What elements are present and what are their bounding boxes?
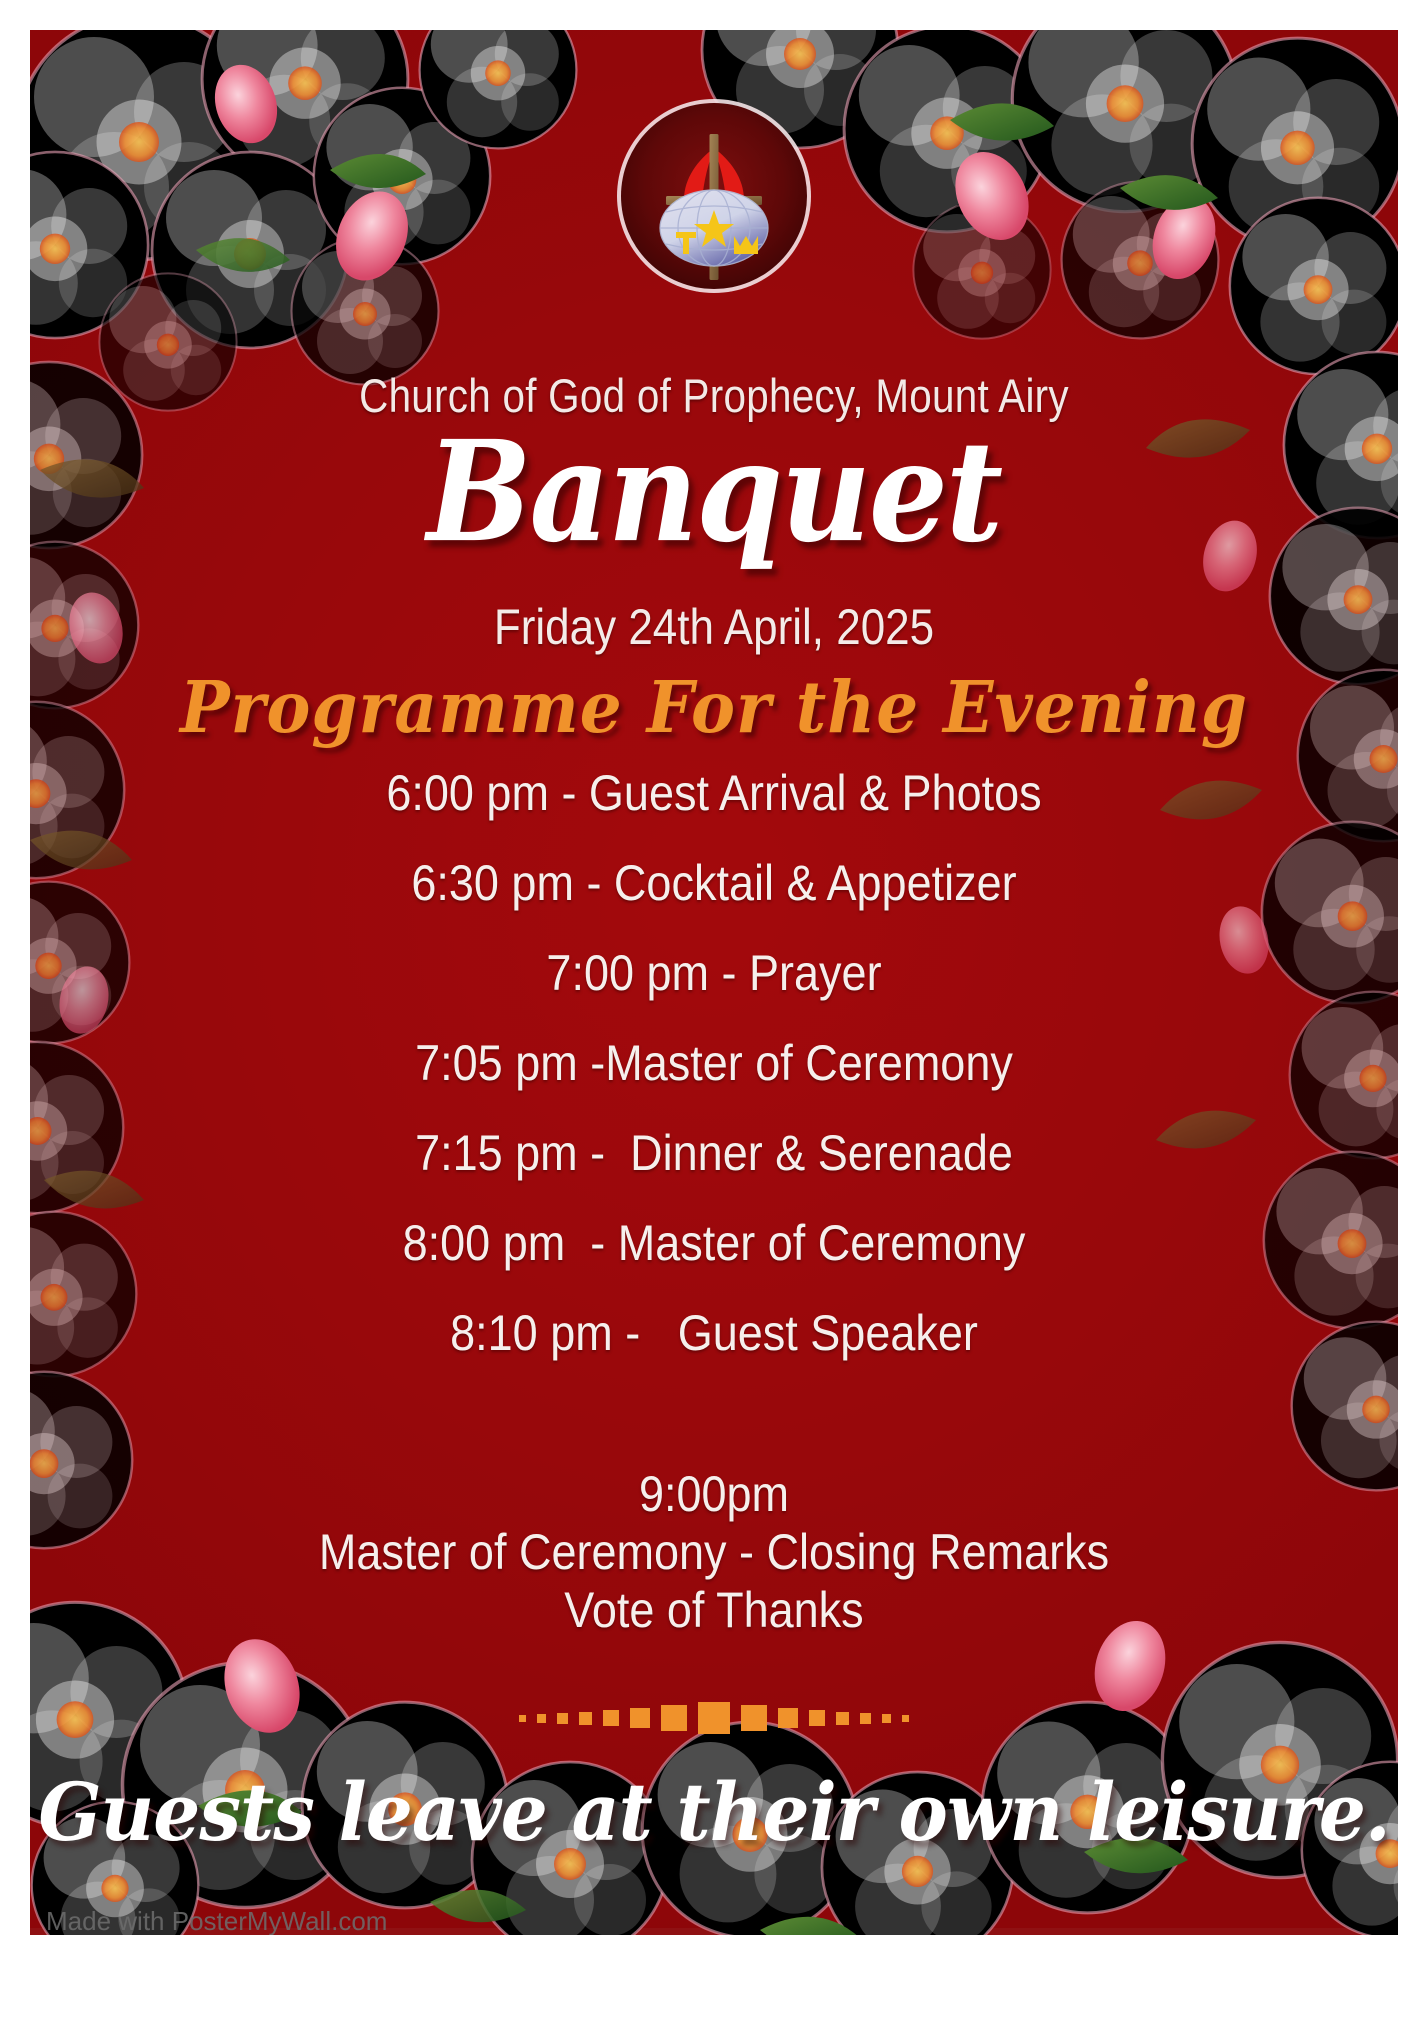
postermywall-watermark: Made with PosterMyWall.com	[46, 1906, 387, 1937]
church-of-god-of-prophecy-emblem-icon	[614, 96, 814, 296]
divider-square	[661, 1705, 687, 1731]
divider-square	[603, 1710, 619, 1726]
schedule-item: 6:00 pm - Guest Arrival & Photos	[71, 768, 1356, 818]
closing-time: 9:00pm	[71, 1465, 1356, 1523]
divider-square	[882, 1714, 891, 1723]
closing-block: 9:00pm Master of Ceremony - Closing Rema…	[0, 1465, 1428, 1639]
divider-square	[519, 1715, 526, 1722]
decorative-square-divider	[0, 1694, 1428, 1742]
vote-of-thanks: Vote of Thanks	[71, 1581, 1356, 1639]
programme-heading: Programme For the Evening	[0, 665, 1428, 749]
divider-square	[902, 1715, 909, 1722]
schedule-item: 7:15 pm - Dinner & Serenade	[71, 1128, 1356, 1178]
divider-square	[741, 1705, 767, 1731]
divider-square	[579, 1712, 592, 1725]
closing-remarks: Master of Ceremony - Closing Remarks	[71, 1523, 1356, 1581]
divider-square	[809, 1710, 825, 1726]
schedule-item: 6:30 pm - Cocktail & Appetizer	[71, 858, 1356, 908]
schedule-list: 6:00 pm - Guest Arrival & Photos 6:30 pm…	[0, 768, 1428, 1398]
divider-square	[860, 1713, 871, 1724]
schedule-item: 8:10 pm - Guest Speaker	[71, 1308, 1356, 1358]
divider-square	[630, 1708, 650, 1728]
church-logo	[614, 96, 814, 296]
schedule-item: 7:05 pm -Master of Ceremony	[71, 1038, 1356, 1088]
divider-square	[698, 1702, 730, 1734]
schedule-item: 7:00 pm - Prayer	[71, 948, 1356, 998]
event-date: Friday 24th April, 2025	[86, 598, 1343, 656]
divider-square	[778, 1708, 798, 1728]
leisure-note: Guests leave at their own leisure.	[0, 1767, 1428, 1860]
banquet-poster: Church of God of Prophecy, Mount Airy Ba…	[0, 0, 1428, 1965]
schedule-item: 8:00 pm - Master of Ceremony	[71, 1218, 1356, 1268]
divider-square	[537, 1714, 546, 1723]
page-title: Banquet	[0, 411, 1428, 573]
divider-square	[557, 1713, 568, 1724]
divider-square	[836, 1712, 849, 1725]
